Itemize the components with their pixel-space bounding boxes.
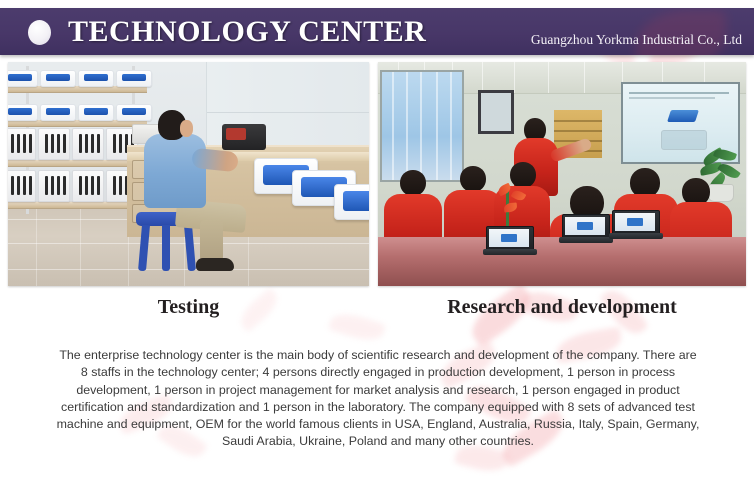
testing-lab-illustration (8, 62, 369, 286)
caption-research-and-development: Research and development (378, 296, 746, 319)
worker-shin (200, 220, 223, 262)
attendee-head (400, 170, 426, 196)
page-title: TECHNOLOGY CENTER (68, 15, 426, 49)
attendee-head (510, 162, 536, 188)
laptop (562, 214, 614, 244)
testing-lab-photo (8, 62, 369, 286)
description-paragraph: The enterprise technology center is the … (55, 347, 701, 451)
attendee-head (460, 166, 486, 192)
window (380, 70, 464, 182)
product-shelf-unit (8, 66, 145, 214)
worker-face (180, 120, 193, 137)
photo-row (0, 62, 754, 286)
product-unit (334, 184, 369, 220)
wall-picture-frame (478, 90, 514, 134)
page-header: TECHNOLOGY CENTER Guangzhou Yorkma Indus… (0, 8, 754, 55)
company-name: Guangzhou Yorkma Industrial Co., Ltd (531, 32, 742, 48)
research-development-photo (378, 62, 746, 286)
worker-body (144, 134, 206, 208)
meeting-table (378, 237, 746, 286)
caption-testing: Testing (8, 296, 369, 319)
meeting-room-illustration (378, 62, 746, 286)
circle-logo-icon (28, 20, 51, 45)
laptop (612, 210, 664, 240)
worker-shoe (196, 258, 234, 271)
test-monitor (222, 124, 266, 150)
laptop (486, 226, 538, 256)
